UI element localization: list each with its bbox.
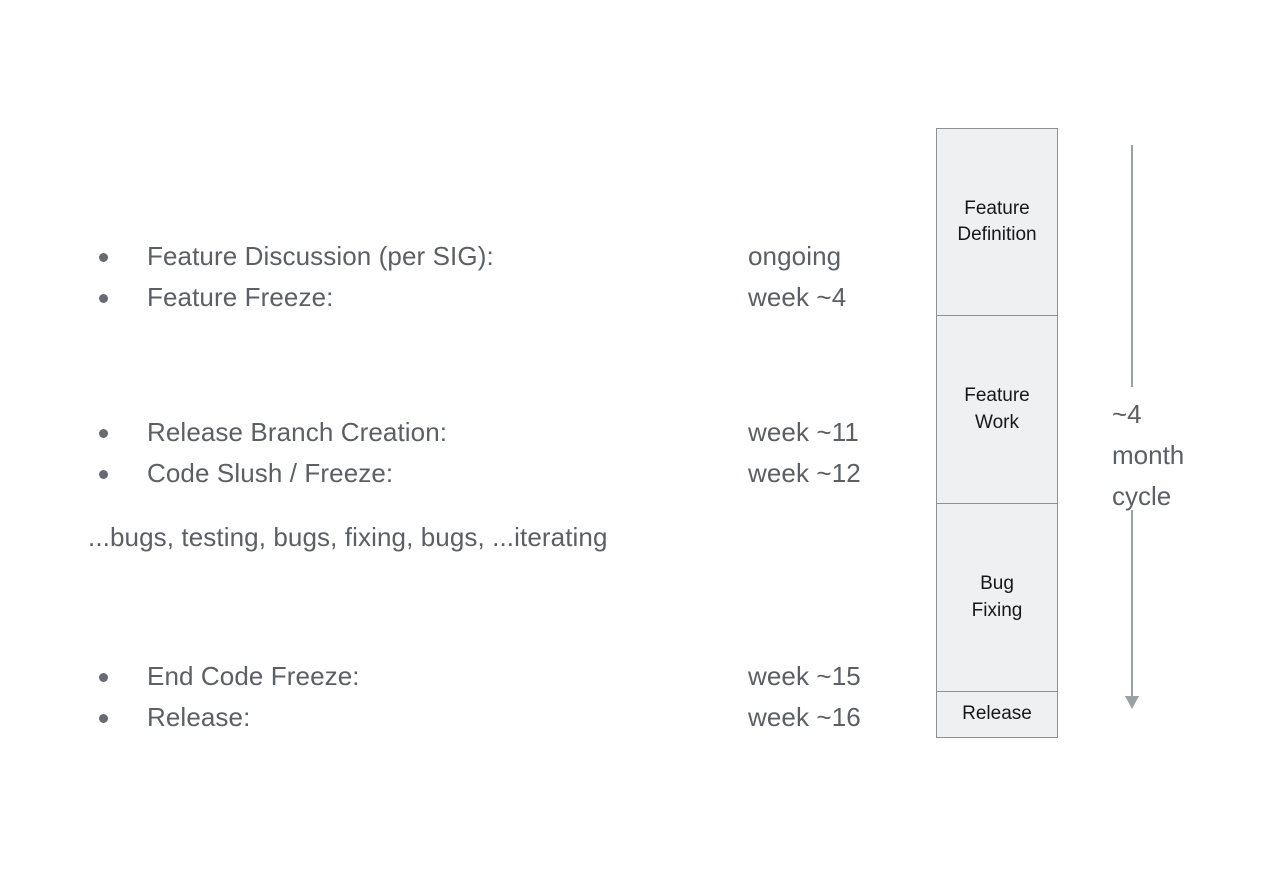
milestone-value: ongoing bbox=[748, 236, 841, 277]
milestone-value: week ~11 bbox=[748, 412, 859, 453]
milestone-label: Release Branch Creation: bbox=[147, 412, 447, 453]
phase-segment-label-line2: Work bbox=[975, 412, 1019, 433]
phase-segment-label: Feature Definition bbox=[957, 196, 1036, 248]
bullet-dot-icon bbox=[99, 253, 108, 262]
iterating-note: ...bugs, testing, bugs, fixing, bugs, ..… bbox=[88, 522, 608, 553]
phase-segment-label-line2: Definition bbox=[957, 224, 1036, 245]
phase-segment-feature-work: Feature Work bbox=[937, 316, 1057, 504]
bullet-dot-icon bbox=[99, 294, 108, 303]
phase-segment-label: Release bbox=[962, 701, 1032, 727]
milestone-label: Release: bbox=[147, 697, 250, 738]
milestone-label: End Code Freeze: bbox=[147, 656, 360, 697]
phase-segment-label-line2: Fixing bbox=[972, 600, 1023, 621]
phase-segment-label-line1: Release bbox=[962, 703, 1032, 724]
bullet-dot-icon bbox=[99, 429, 108, 438]
phase-segment-label-line1: Feature bbox=[964, 198, 1029, 219]
cycle-duration-line2: month bbox=[1112, 435, 1184, 476]
phase-segment-label-line1: Feature bbox=[964, 385, 1029, 406]
bullet-dot-icon bbox=[99, 673, 108, 682]
cycle-duration-line1: ~4 bbox=[1112, 394, 1184, 435]
cycle-arrow-line-bottom bbox=[1131, 510, 1133, 698]
cycle-arrowhead-icon bbox=[1125, 696, 1139, 709]
bullet-dot-icon bbox=[99, 470, 108, 479]
milestone-label: Code Slush / Freeze: bbox=[147, 453, 393, 494]
phase-segment-label: Feature Work bbox=[964, 383, 1029, 435]
cycle-arrow-line-top bbox=[1131, 145, 1133, 387]
phase-segment-feature-definition: Feature Definition bbox=[937, 129, 1057, 316]
milestone-label: Feature Freeze: bbox=[147, 277, 333, 318]
cycle-duration-label: ~4 month cycle bbox=[1112, 394, 1184, 517]
milestone-value: week ~4 bbox=[748, 277, 846, 318]
bullet-dot-icon bbox=[99, 714, 108, 723]
cycle-annotation: ~4 month cycle bbox=[1090, 128, 1240, 738]
phase-bar: Feature Definition Feature Work Bug Fixi… bbox=[936, 128, 1058, 738]
phase-segment-bug-fixing: Bug Fixing bbox=[937, 504, 1057, 692]
phase-segment-label: Bug Fixing bbox=[972, 571, 1023, 623]
cycle-duration-line3: cycle bbox=[1112, 476, 1184, 517]
phase-segment-label-line1: Bug bbox=[980, 573, 1014, 594]
phase-segment-release: Release bbox=[937, 692, 1057, 736]
milestone-value: week ~16 bbox=[748, 697, 861, 738]
milestone-value: week ~12 bbox=[748, 453, 861, 494]
slide-canvas: Feature Discussion (per SIG): ongoing Fe… bbox=[0, 0, 1280, 895]
milestone-value: week ~15 bbox=[748, 656, 861, 697]
milestone-label: Feature Discussion (per SIG): bbox=[147, 236, 494, 277]
